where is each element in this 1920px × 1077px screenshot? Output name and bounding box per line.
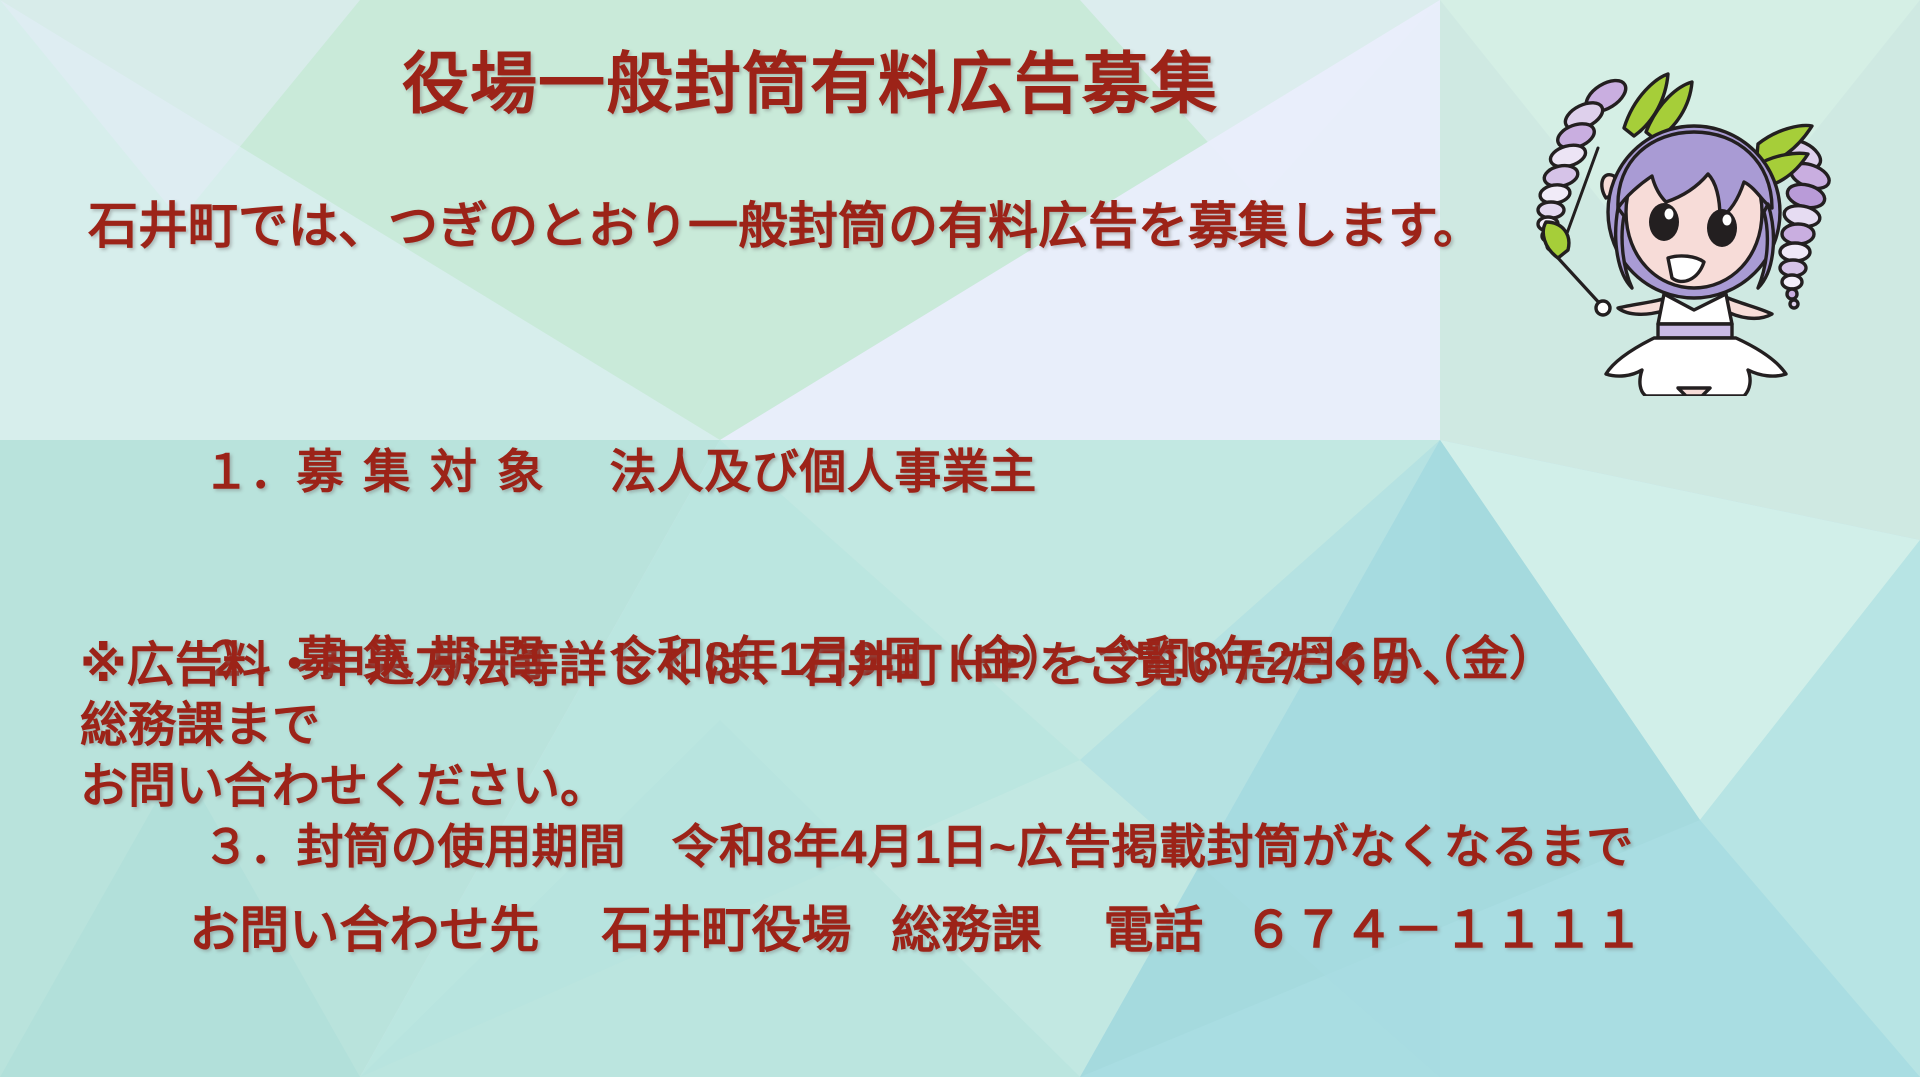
intro-paragraph: 石井町では、つぎのとおり一般封筒の有料広告を募集します。 bbox=[88, 196, 1483, 256]
contact-line: お問い合わせ先石井町役場総務課電話６７４－１１１１ bbox=[106, 840, 1643, 1020]
note-paragraph: ※広告料・申込方法等詳しくは、石井町ＨＰをご覧いただくか、総務課まで お問い合わ… bbox=[80, 636, 1500, 817]
phone-label: 電話 bbox=[1103, 902, 1203, 958]
contact-division: 総務課 bbox=[891, 902, 1041, 958]
slide-content: 役場一般封筒有料広告募集 石井町では、つぎのとおり一般封筒の有料広告を募集します… bbox=[0, 0, 1920, 1077]
contact-label: お問い合わせ先 bbox=[189, 902, 539, 958]
item-label: 募集対象 bbox=[296, 445, 563, 498]
note-line-1: ※広告料・申込方法等詳しくは、石井町ＨＰをご覧いただくか、総務課まで bbox=[80, 636, 1500, 757]
note-line-2: お問い合わせください。 bbox=[80, 757, 1500, 817]
list-item: １．募集対象法人及び個人事業主 bbox=[98, 378, 1634, 566]
item-value: 法人及び個人事業主 bbox=[609, 445, 1036, 498]
item-number: １． bbox=[202, 445, 296, 498]
contact-office: 石井町役場 bbox=[601, 902, 851, 958]
page-title: 役場一般封筒有料広告募集 bbox=[0, 48, 1920, 122]
slide-canvas: 役場一般封筒有料広告募集 石井町では、つぎのとおり一般封筒の有料広告を募集します… bbox=[0, 0, 1920, 1077]
phone-number: ６７４－１１１１ bbox=[1243, 902, 1643, 958]
